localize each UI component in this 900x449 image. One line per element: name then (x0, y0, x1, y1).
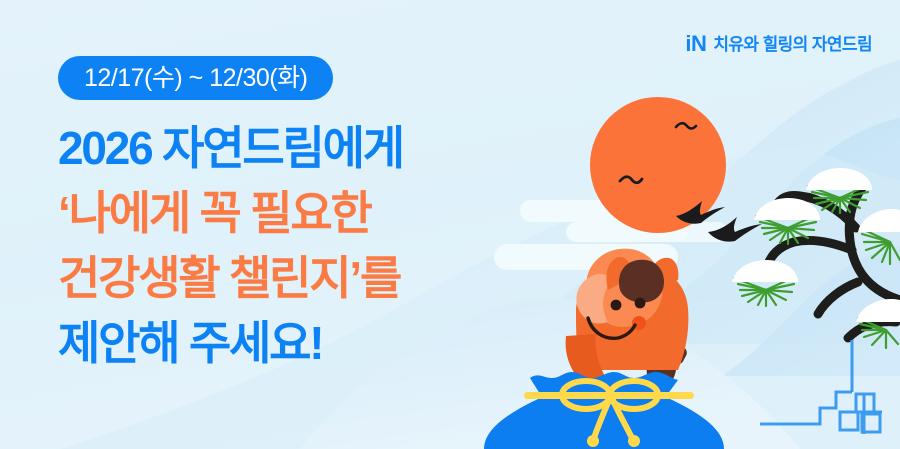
headline-line-3: 건강생활 챌린지’를 (58, 246, 403, 311)
horse-mouth (588, 318, 635, 338)
horse-mane-back (642, 299, 689, 390)
ribbon-tip-right (628, 435, 640, 447)
brand-logo-text: 치유와 힐링의 자연드림 (713, 36, 872, 53)
snow-cap-bottom-right (856, 299, 900, 322)
horse-head (586, 249, 662, 327)
fortune-bag-collar (530, 372, 678, 410)
horse-eye-left (611, 300, 622, 311)
needle-cluster-lower-left (732, 260, 798, 306)
fortune-bag-body (484, 398, 724, 449)
bird-small-top (676, 123, 696, 128)
snow-cap-lower-left (732, 260, 798, 282)
pine-needle-clusters (732, 168, 900, 348)
needle-cluster-bottom-right (856, 299, 900, 348)
korean-lattice-pattern (760, 340, 882, 434)
needle-cluster-left (754, 198, 820, 244)
fortune-bag (484, 372, 724, 449)
fortune-bag-ribbon (562, 381, 658, 438)
bird-large-flock (676, 201, 762, 242)
in-logo-mark: iN (685, 33, 706, 55)
promo-banner: iN 치유와 힐링의 자연드림 12/17(수) ~ 12/30(화) 2026… (0, 0, 900, 449)
pine-tree (732, 168, 900, 348)
horse-ear-right (650, 258, 679, 290)
horse-body (576, 264, 688, 370)
pine-branch-low (818, 282, 858, 314)
lattice-step-path (760, 392, 852, 424)
lattice-square-3 (862, 414, 880, 432)
lattice-cross (856, 394, 882, 434)
horse-character (566, 249, 689, 391)
horse-cheek (632, 316, 646, 330)
pine-branch-left (768, 240, 852, 264)
headline-block: 2026 자연드림에게 ‘나에게 꼭 필요한 건강생활 챌린지’를 제안해 주세… (58, 116, 403, 376)
brand-logo: iN 치유와 힐링의 자연드림 (685, 33, 872, 55)
event-period-badge: 12/17(수) ~ 12/30(화) (58, 56, 333, 100)
needle-cluster-right (858, 209, 900, 264)
snow-cap-top (806, 168, 872, 190)
fortune-bag-band (524, 392, 694, 399)
horse-chest (566, 334, 606, 378)
horse-forelock (619, 260, 664, 303)
mountain-mid (548, 118, 900, 344)
bird-large-right (708, 217, 762, 242)
pine-trunk (849, 188, 900, 300)
lattice-square-1 (856, 394, 874, 412)
headline-line-1: 2026 자연드림에게 (58, 116, 403, 181)
sun (590, 97, 726, 233)
pine-branch-upper (776, 195, 856, 228)
mountain-far (560, 60, 900, 300)
headline-line-4: 제안해 주세요! (58, 311, 403, 376)
lattice-square-2 (840, 412, 858, 430)
snow-cap-left (754, 198, 820, 220)
mountain-near-right (722, 246, 900, 376)
horse-eye-right (635, 298, 646, 309)
needle-cluster-top (806, 168, 872, 213)
bird-large-left (676, 201, 725, 224)
event-period-label: 12/17(수) ~ 12/30(화) (84, 66, 307, 91)
bird-flock (620, 123, 696, 183)
clouds (494, 200, 728, 270)
pine-branch-far (848, 322, 896, 338)
horse-ear-left (606, 257, 634, 290)
horse-muzzle (576, 274, 612, 324)
bird-small-mid (620, 177, 642, 183)
ribbon-tip-left (587, 435, 599, 447)
headline-line-2: ‘나에게 꼭 필요한 (58, 181, 403, 246)
snow-cap-right (858, 209, 900, 232)
